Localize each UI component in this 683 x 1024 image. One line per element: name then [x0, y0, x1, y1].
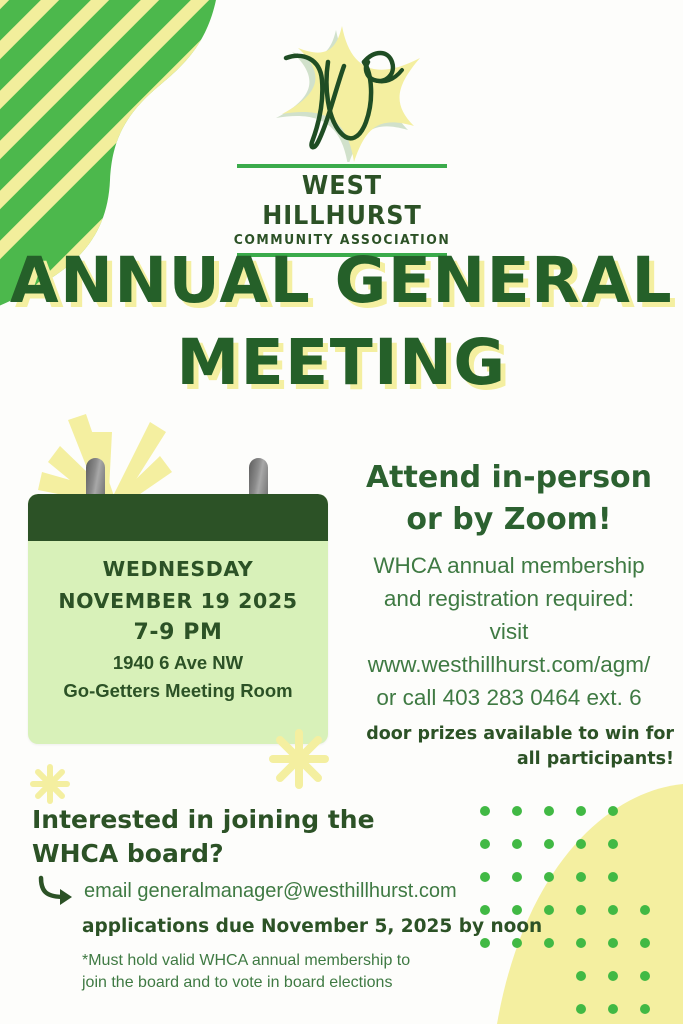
- email-row: email generalmanager@westhillhurst.com: [32, 875, 572, 907]
- board-heading-line-1: Interested in joining the: [32, 803, 572, 837]
- membership-footnote: *Must hold valid WHCA annual membership …: [82, 950, 572, 994]
- event-calendar-card: WEDNESDAY NOVEMBER 19 2025 7-9 PM 1940 6…: [28, 494, 328, 744]
- logo-monogram-icon: [224, 22, 460, 162]
- footnote-line-2: join the board and to vote in board elec…: [82, 972, 572, 994]
- door-prizes-line-1: door prizes available to win for: [344, 722, 674, 747]
- event-date: NOVEMBER 19 2025: [38, 585, 318, 617]
- attend-body-line-3: visit: [344, 615, 674, 648]
- attend-body: WHCA annual membership and registration …: [344, 549, 674, 714]
- curved-arrow-icon: [34, 875, 78, 907]
- whca-logo: WEST HILLHURST COMMUNITY ASSOCIATION: [224, 22, 460, 222]
- attend-heading-line-2: or by Zoom!: [344, 499, 674, 541]
- calendar-card-body: WEDNESDAY NOVEMBER 19 2025 7-9 PM 1940 6…: [28, 494, 328, 744]
- applications-due: applications due November 5, 2025 by noo…: [82, 914, 572, 940]
- board-heading: Interested in joining the WHCA board?: [32, 803, 572, 871]
- event-time: 7-9 PM: [38, 617, 318, 649]
- footnote-line-1: *Must hold valid WHCA annual membership …: [82, 950, 572, 972]
- event-day: WEDNESDAY: [38, 553, 318, 585]
- starburst-icon-medium: [266, 726, 332, 792]
- calendar-details: WEDNESDAY NOVEMBER 19 2025 7-9 PM 1940 6…: [28, 541, 328, 705]
- headline-line-1: ANNUAL GENERAL: [10, 244, 673, 317]
- attend-heading-line-1: Attend in-person: [344, 457, 674, 499]
- headline-line-2: MEETING: [0, 322, 683, 404]
- event-room: Go-Getters Meeting Room: [38, 677, 318, 705]
- attend-heading: Attend in-person or by Zoom!: [344, 457, 674, 541]
- door-prizes-line-2: all participants!: [344, 747, 674, 772]
- phone-line: or call 403 283 0464 ext. 6: [344, 681, 674, 714]
- attend-info-block: Attend in-person or by Zoom! WHCA annual…: [344, 457, 674, 772]
- attend-body-line-1: WHCA annual membership: [344, 549, 674, 582]
- registration-url[interactable]: www.westhillhurst.com/agm/: [344, 648, 674, 681]
- page-title: ANNUAL GENERAL MEETING: [0, 240, 683, 404]
- board-email[interactable]: email generalmanager@westhillhurst.com: [84, 877, 457, 905]
- attend-body-line-2: and registration required:: [344, 582, 674, 615]
- board-info-block: Interested in joining the WHCA board? em…: [32, 803, 572, 994]
- starburst-icon-small: [28, 762, 72, 806]
- board-heading-line-2: WHCA board?: [32, 837, 572, 871]
- door-prizes-note: door prizes available to win for all par…: [344, 722, 674, 772]
- poster: WEST HILLHURST COMMUNITY ASSOCIATION ANN…: [0, 0, 683, 1024]
- logo-name: WEST HILLHURST: [231, 171, 453, 231]
- event-address: 1940 6 Ave NW: [38, 649, 318, 677]
- logo-rule-top: [237, 164, 447, 168]
- calendar-header-bar: [28, 494, 328, 541]
